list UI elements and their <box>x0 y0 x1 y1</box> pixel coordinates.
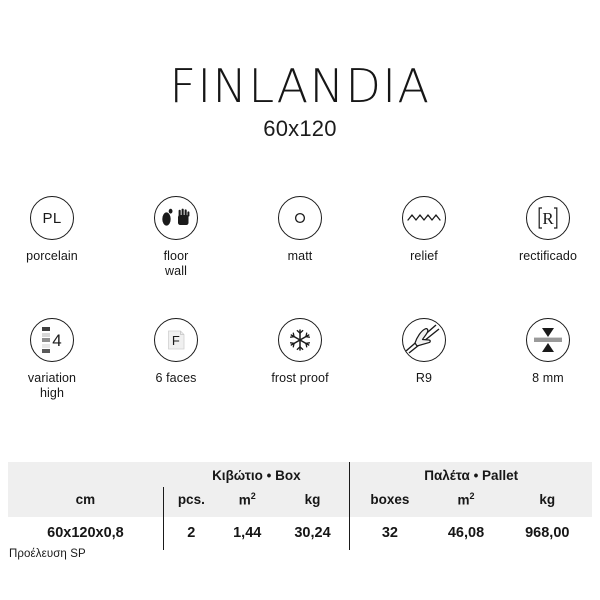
shoe-slope-icon <box>402 318 446 362</box>
svg-text:F: F <box>172 333 180 348</box>
cell-box-kg: 30,24 <box>276 517 350 550</box>
icon-label-frost-proof: frost proof <box>271 371 328 386</box>
title-block: FINLANDIA 60x120 <box>0 62 600 142</box>
col-box-kg: kg <box>276 487 350 517</box>
packaging-table: Κιβώτιο • Box Παλέτα • Pallet cm pcs. m2… <box>8 462 592 550</box>
icon-label-matt: matt <box>288 249 313 264</box>
icon-cell-floor-wall: floor wall <box>130 196 222 279</box>
icon-cell-six-faces: F 6 faces <box>130 318 222 386</box>
icon-label-rectificado: rectificado <box>519 249 577 264</box>
icon-label-six-faces: 6 faces <box>155 371 196 386</box>
table-row: 60x120x0,8 2 1,44 30,24 32 46,08 968,00 <box>8 517 592 550</box>
pl-circle-icon: PL <box>30 196 74 240</box>
wave-relief-icon <box>402 196 446 240</box>
variation-level: 4 <box>52 332 61 349</box>
icon-row-2: 4 variation high F 6 faces <box>0 318 600 401</box>
table-group-row: Κιβώτιο • Box Παλέτα • Pallet <box>8 462 592 487</box>
col-pallet-kg: kg <box>503 487 592 517</box>
icon-label-floor-wall: floor wall <box>164 249 189 279</box>
cell-pcs: 2 <box>163 517 218 550</box>
icon-cell-matt: matt <box>254 196 346 264</box>
icon-label-variation: variation high <box>28 371 76 401</box>
superscript-2: 2 <box>251 491 256 501</box>
origin-note: Προέλευση SP <box>9 548 86 560</box>
footprint-hand-icon <box>154 196 198 240</box>
icon-cell-thickness: 8 mm <box>502 318 594 386</box>
page-title: FINLANDIA <box>0 62 600 110</box>
icon-cell-variation: 4 variation high <box>6 318 98 401</box>
cell-cm: 60x120x0,8 <box>8 517 163 550</box>
svg-text:R: R <box>542 209 554 228</box>
col-pallet-m2: m2 <box>429 487 502 517</box>
variation-bar-stack <box>42 327 50 353</box>
icon-label-porcelain: porcelain <box>26 249 78 264</box>
col-cm: cm <box>8 487 163 517</box>
col-boxes: boxes <box>350 487 430 517</box>
icon-cell-frost-proof: frost proof <box>254 318 346 386</box>
snowflake-icon <box>278 318 322 362</box>
group-box: Κιβώτιο • Box <box>163 462 349 487</box>
col-pcs: pcs. <box>163 487 218 517</box>
icon-label-relief: relief <box>410 249 438 264</box>
cell-pallet-kg: 968,00 <box>503 517 592 550</box>
icon-cell-slip-rating: R9 <box>378 318 470 386</box>
table-header-row: cm pcs. m2 kg boxes m2 kg <box>8 487 592 517</box>
icon-label-thickness: 8 mm <box>532 371 564 386</box>
icon-grid: PL porcelain <box>0 196 600 401</box>
cell-pallet-m2: 46,08 <box>429 517 502 550</box>
cell-boxes: 32 <box>350 517 430 550</box>
thickness-arrows-icon <box>526 318 570 362</box>
icon-cell-porcelain: PL porcelain <box>6 196 98 264</box>
variation-bars-icon: 4 <box>30 318 74 362</box>
icon-cell-relief: relief <box>378 196 470 264</box>
col-box-m2: m2 <box>219 487 276 517</box>
product-size: 60x120 <box>0 116 600 142</box>
icon-cell-rectificado: R rectificado <box>502 196 594 264</box>
pl-glyph: PL <box>43 210 62 227</box>
group-empty <box>8 462 163 487</box>
faces-page-icon: F <box>154 318 198 362</box>
cell-box-m2: 1,44 <box>219 517 276 550</box>
group-pallet: Παλέτα • Pallet <box>350 462 592 487</box>
rectified-r-icon: R <box>526 196 570 240</box>
icon-label-slip-rating: R9 <box>416 371 432 386</box>
superscript-2: 2 <box>470 491 475 501</box>
icon-row-1: PL porcelain <box>0 196 600 279</box>
matt-dot-icon <box>278 196 322 240</box>
